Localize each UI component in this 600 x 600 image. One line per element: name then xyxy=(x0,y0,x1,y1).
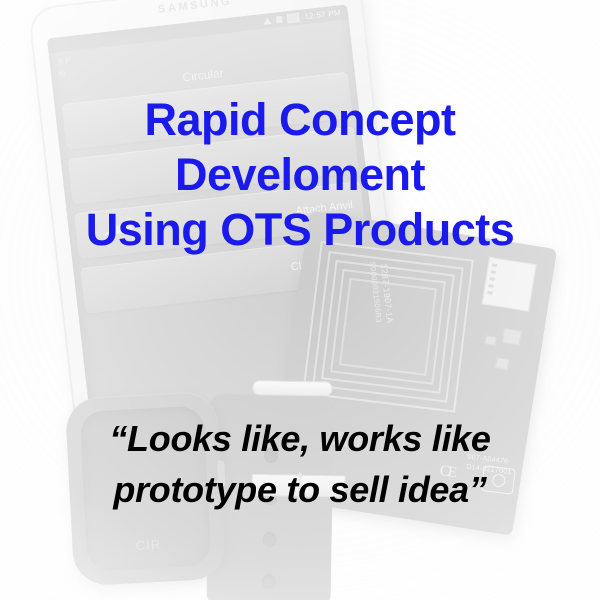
subtitle-line-2: prototype to sell idea” xyxy=(0,464,600,515)
smd-component xyxy=(484,335,496,346)
smd-component xyxy=(502,328,522,346)
strap-hole xyxy=(262,532,276,547)
page-title: Rapid Concept Develoment Using OTS Produ… xyxy=(0,92,600,257)
title-line-1: Rapid Concept xyxy=(0,92,600,147)
title-line-2: Develoment xyxy=(0,147,600,202)
strap-hole xyxy=(262,574,276,589)
battery-icon xyxy=(287,13,300,23)
subtitle-line-1: “Looks like, works like xyxy=(0,413,600,464)
white-connector-chip xyxy=(482,257,537,312)
watch-screen-label: CIR xyxy=(86,534,211,555)
smd-component xyxy=(495,357,510,370)
strap-tip xyxy=(252,380,332,396)
wifi-icon xyxy=(276,16,283,24)
signal-icon xyxy=(263,17,272,25)
slide-canvas: SAMSUNG 12:57 PM S P fo Circular xyxy=(0,0,600,600)
title-line-3: Using OTS Products xyxy=(0,202,600,257)
subtitle-quote: “Looks like, works like prototype to sel… xyxy=(0,413,600,515)
status-bar-time: 12:57 PM xyxy=(304,8,341,21)
